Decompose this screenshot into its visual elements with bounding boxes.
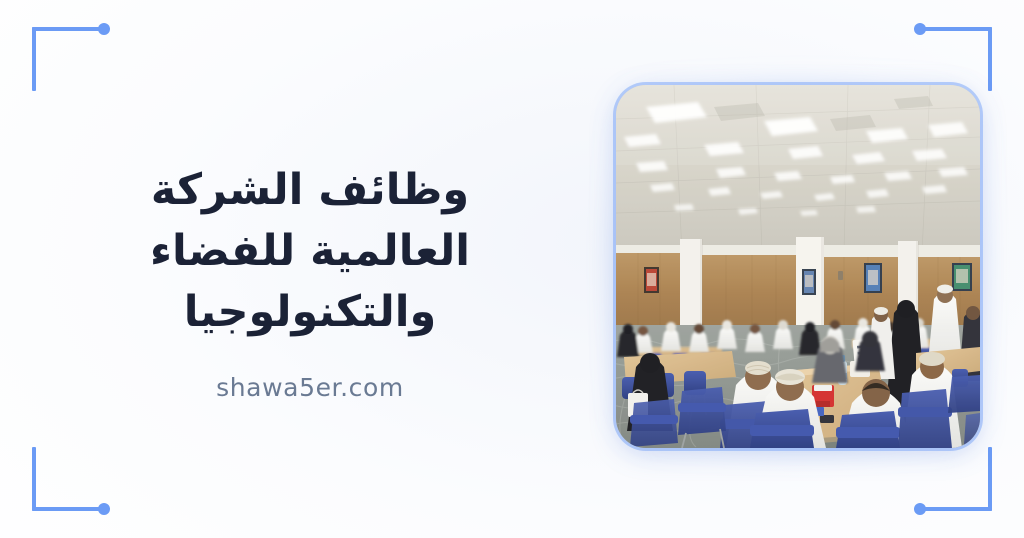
headline-line-2: العالمية للفضاء bbox=[60, 221, 560, 282]
conference-hall-photo bbox=[616, 85, 980, 448]
bracket-vertical-line bbox=[988, 27, 992, 91]
bracket-dot bbox=[914, 23, 926, 35]
corner-bracket-bottom-left-icon bbox=[32, 437, 106, 511]
bracket-horizontal-line bbox=[32, 27, 100, 31]
page-title: وظائف الشركة العالمية للفضاء والتكنولوجي… bbox=[60, 160, 560, 343]
headline-line-3: والتكنولوجيا bbox=[60, 282, 560, 343]
headline-block: وظائف الشركة العالمية للفضاء والتكنولوجي… bbox=[60, 160, 560, 402]
photo-card bbox=[616, 85, 980, 448]
bracket-horizontal-line bbox=[924, 507, 992, 511]
bracket-vertical-line bbox=[32, 447, 36, 511]
bracket-dot bbox=[914, 503, 926, 515]
bracket-dot bbox=[98, 503, 110, 515]
corner-bracket-top-left-icon bbox=[32, 27, 106, 101]
bracket-vertical-line bbox=[988, 447, 992, 511]
banner-canvas: وظائف الشركة العالمية للفضاء والتكنولوجي… bbox=[0, 0, 1024, 538]
bracket-horizontal-line bbox=[924, 27, 992, 31]
bracket-dot bbox=[98, 23, 110, 35]
bracket-vertical-line bbox=[32, 27, 36, 91]
brand-watermark: shawa5er.com bbox=[60, 373, 560, 402]
headline-line-1: وظائف الشركة bbox=[60, 160, 560, 221]
bracket-horizontal-line bbox=[32, 507, 100, 511]
